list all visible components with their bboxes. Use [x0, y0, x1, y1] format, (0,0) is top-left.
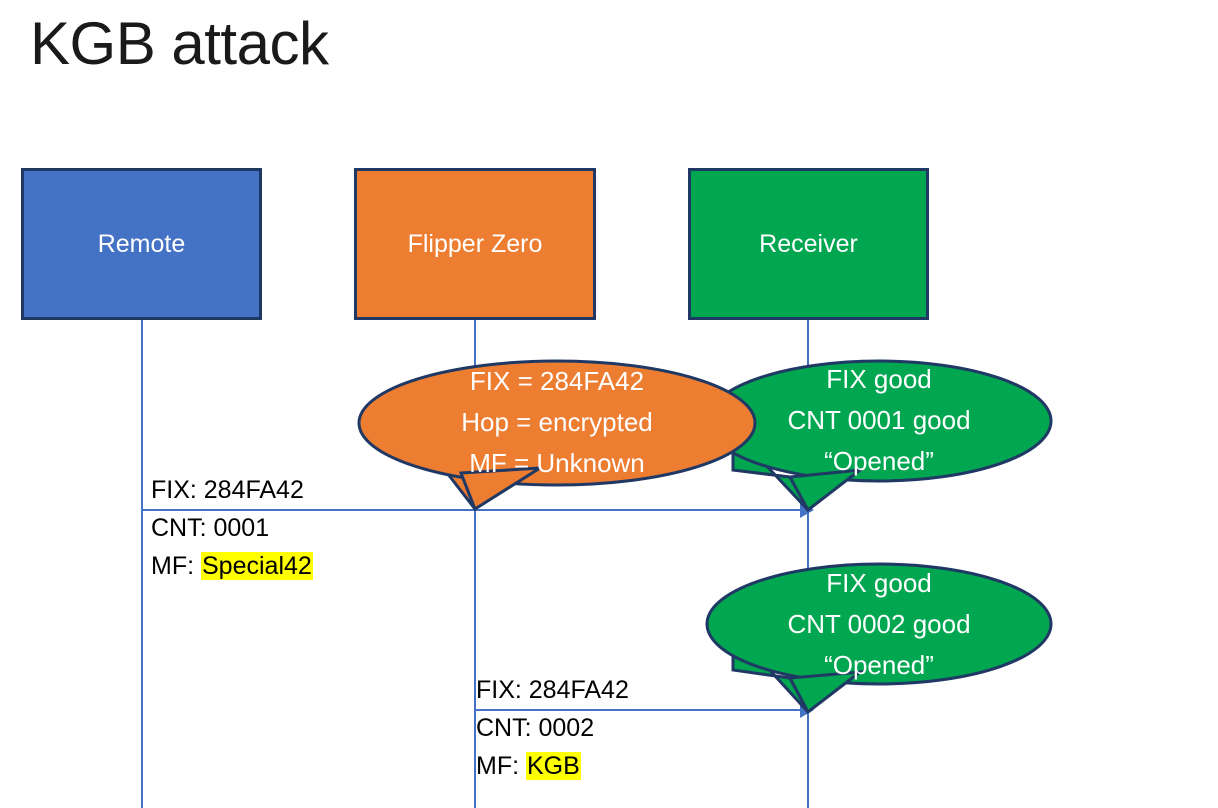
receiver-callout-2-shape[interactable] [707, 564, 1051, 712]
message-1-mf-value: Special42 [201, 552, 313, 580]
message-2-mf: MF: KGB [476, 747, 629, 785]
message-label-2: FIX: 284FA42 CNT: 0002 MF: KGB [476, 671, 629, 785]
receiver-callout-1-shape[interactable] [707, 361, 1051, 510]
flipper-callout-shape[interactable] [359, 361, 755, 509]
message-2-cnt: CNT: 0002 [476, 709, 629, 747]
message-label-1: FIX: 284FA42 CNT: 0001 MF: Special42 [151, 471, 313, 585]
message-1-mf: MF: Special42 [151, 547, 313, 585]
message-2-mf-label: MF: [476, 752, 526, 780]
slide-canvas: KGB attack Remote Flipper Zero Receiver [0, 0, 1218, 808]
message-1-fix: FIX: 284FA42 [151, 471, 313, 509]
message-2-mf-value: KGB [526, 752, 581, 780]
message-1-mf-label: MF: [151, 552, 201, 580]
message-1-cnt: CNT: 0001 [151, 509, 313, 547]
message-2-fix: FIX: 284FA42 [476, 671, 629, 709]
